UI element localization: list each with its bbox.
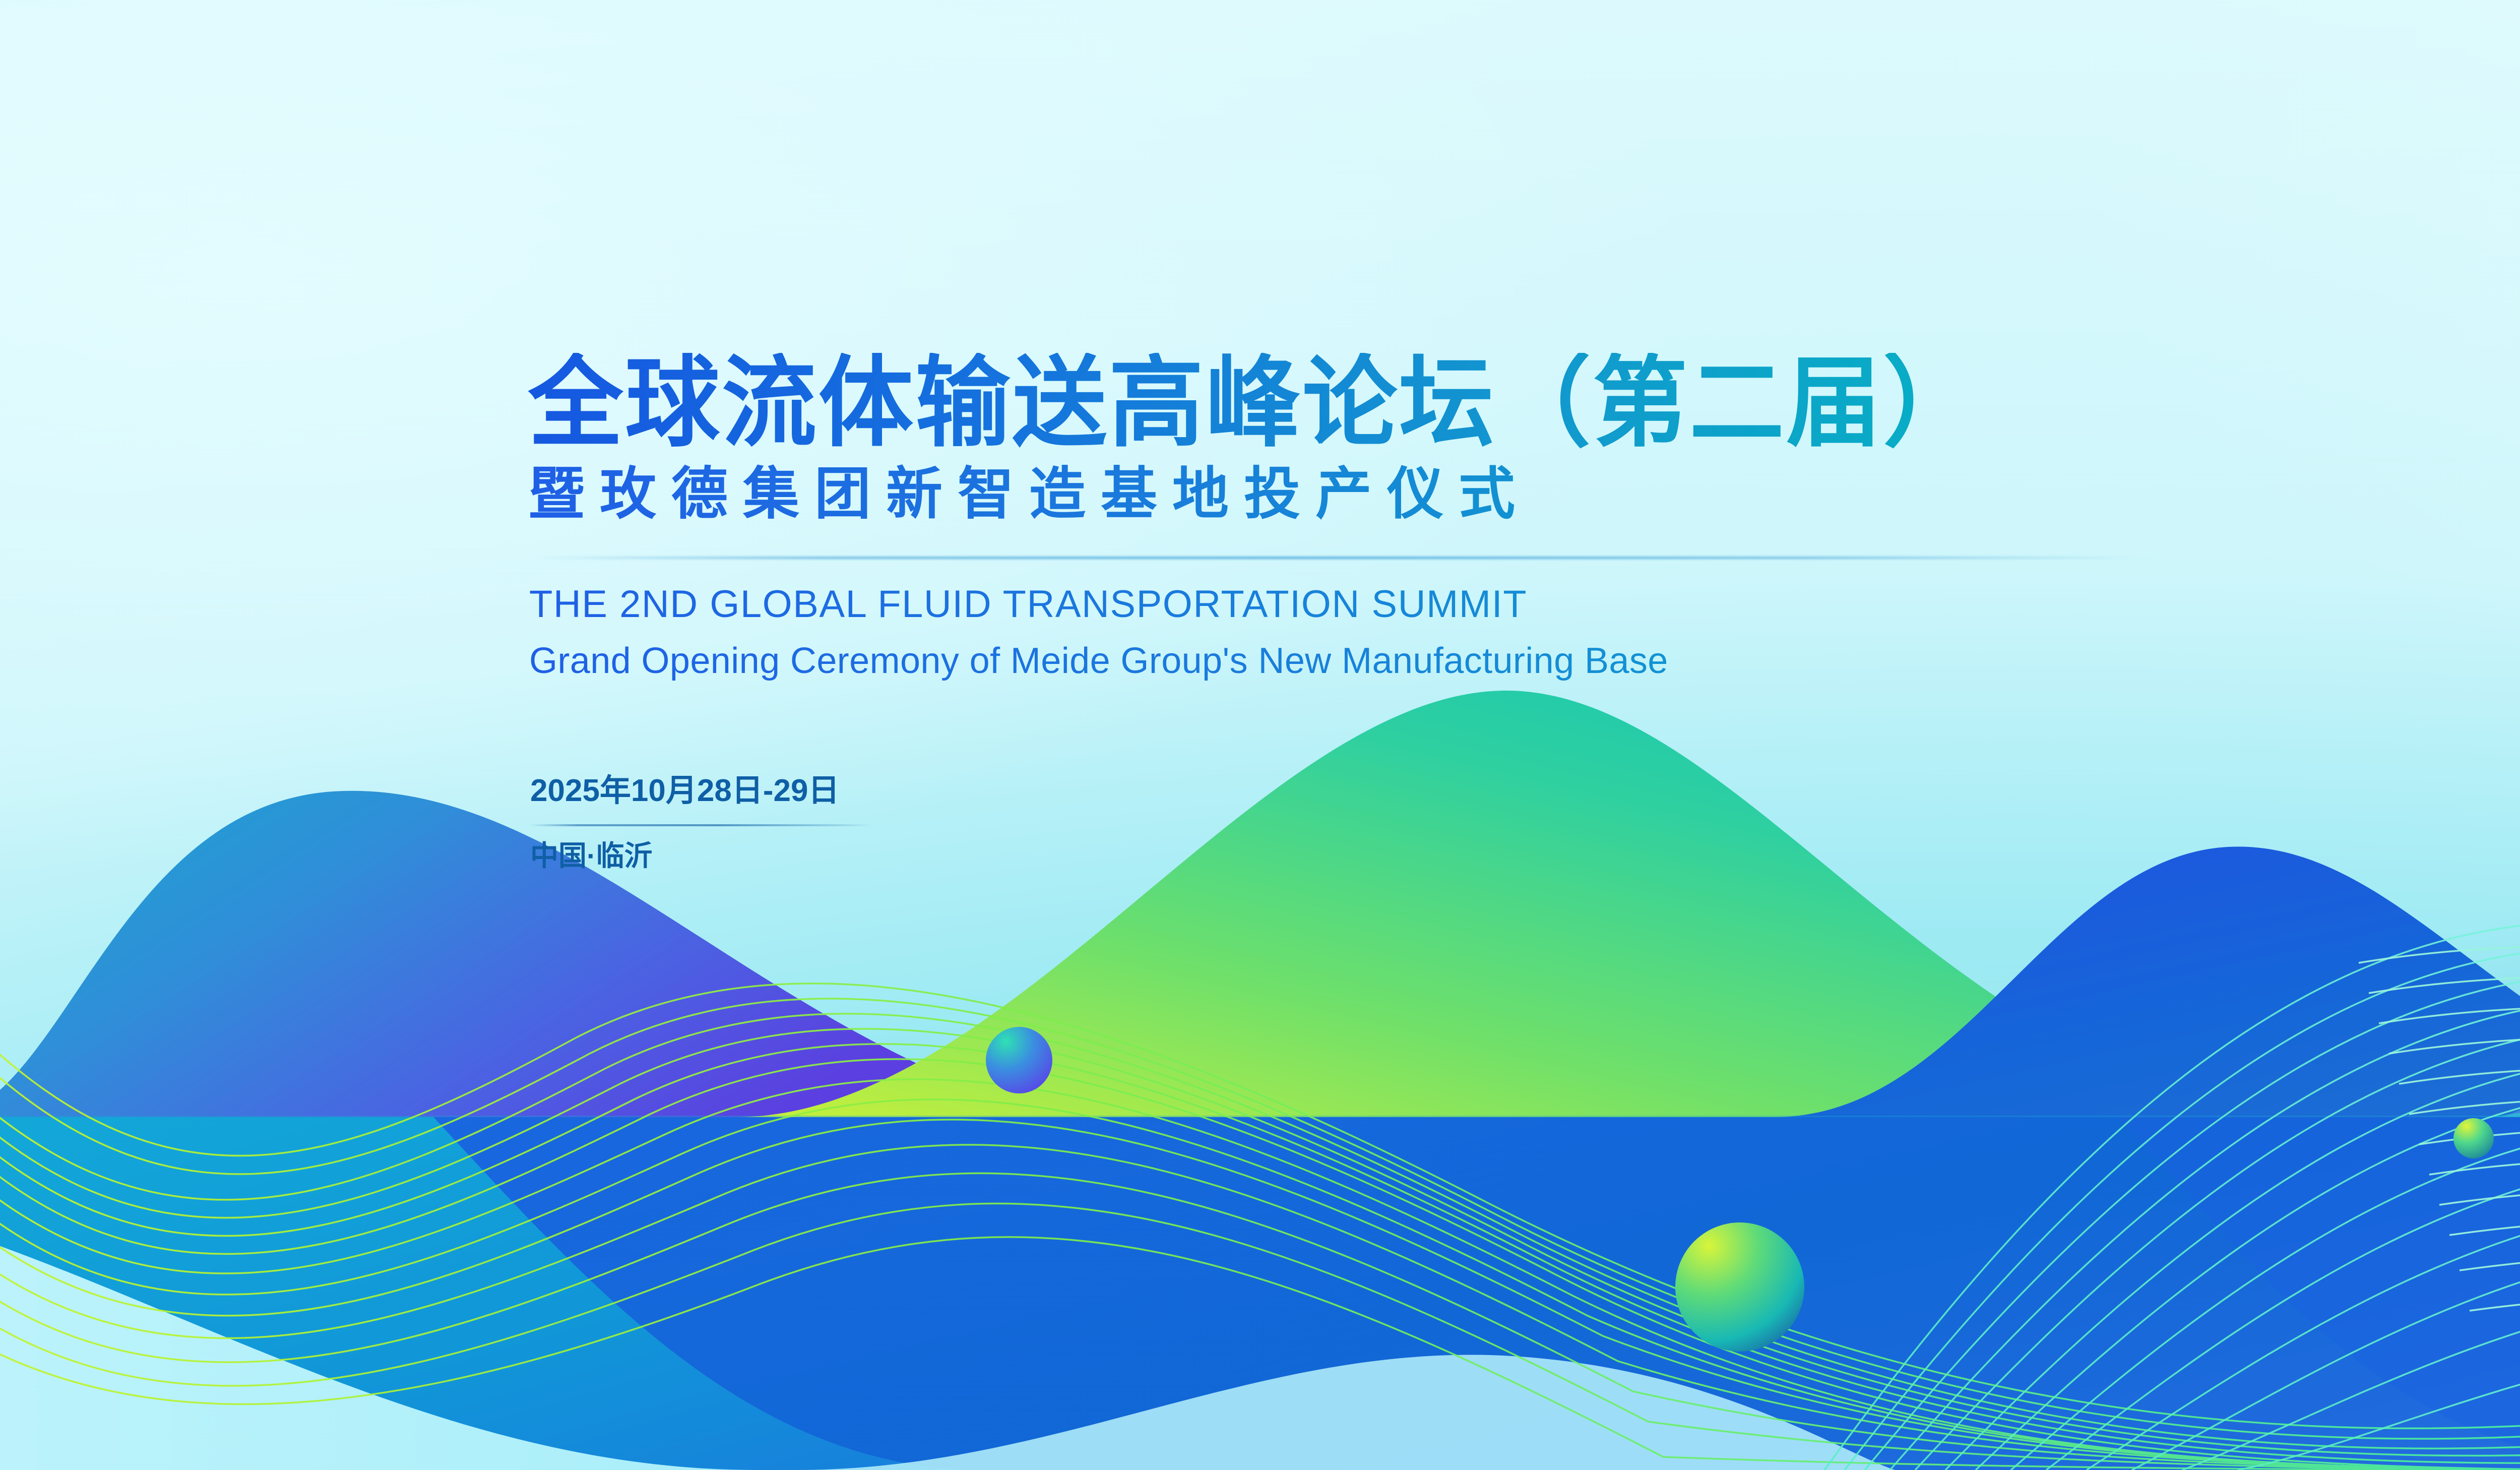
headline-divider: [535, 557, 2138, 559]
sphere-mini-green: [2453, 1118, 2494, 1158]
sphere-large-green: [1675, 1222, 1804, 1352]
banner-canvas: 全球流体输送高峰论坛（第二届） 暨玫德集团新智造基地投产仪式 THE 2ND G…: [0, 0, 2520, 1470]
meta-divider: [529, 824, 873, 826]
headline-block: 全球流体输送高峰论坛（第二届） 暨玫德集团新智造基地投产仪式 THE 2ND G…: [528, 353, 2520, 871]
page-subtitle-en-secondary: Grand Opening Ceremony of Meide Group's …: [529, 639, 2520, 683]
event-meta: 2025年10月28日-29日 中国·临沂: [528, 774, 2520, 872]
page-subtitle-en-primary: THE 2ND GLOBAL FLUID TRANSPORTATION SUMM…: [529, 581, 2520, 627]
page-subtitle-cn: 暨玫德集团新智造基地投产仪式: [528, 461, 2520, 527]
hill-group-lower: [0, 1117, 2520, 1470]
page-title: 全球流体输送高峰论坛（第二届）: [528, 353, 2520, 454]
event-location: 中国·临沂: [530, 840, 2520, 872]
event-date: 2025年10月28日-29日: [530, 774, 2520, 808]
sphere-small-blue: [986, 1027, 1052, 1093]
